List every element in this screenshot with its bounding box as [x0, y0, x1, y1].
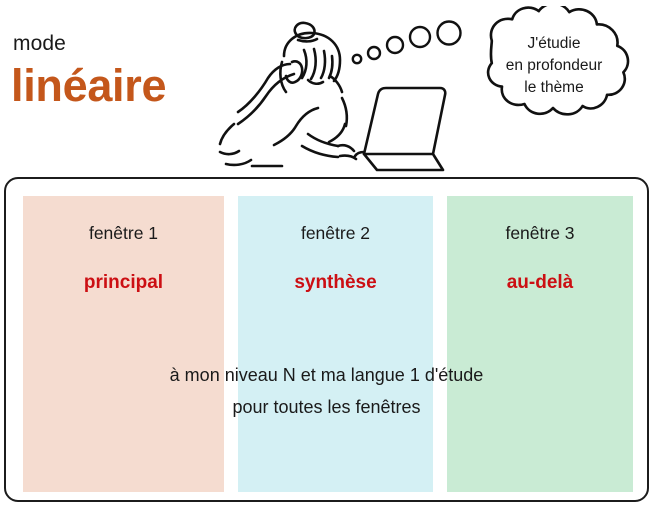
window-3-title: au-delà [447, 272, 633, 294]
thought-dots [348, 18, 468, 68]
window-2-title: synthèse [238, 272, 433, 294]
window-3-header: fenêtre 3 [447, 223, 633, 244]
window-1-header: fenêtre 1 [23, 223, 224, 244]
window-2-header: fenêtre 2 [238, 223, 433, 244]
thought-bubble-text: J'étudie en profondeur le thème [466, 33, 642, 99]
thought-line-2: en profondeur [466, 55, 642, 77]
mode-title: linéaire [11, 63, 166, 108]
window-column-3[interactable]: fenêtre 3 au-delà [447, 196, 633, 492]
thought-line-1: J'étudie [466, 33, 642, 55]
window-columns: fenêtre 1 principal fenêtre 2 synthèse f… [6, 179, 647, 500]
mode-label: mode [13, 33, 66, 54]
window-column-2[interactable]: fenêtre 2 synthèse [238, 196, 433, 492]
thought-dots-icon [348, 18, 468, 68]
thought-line-3: le thème [466, 77, 642, 99]
window-1-title: principal [23, 272, 224, 294]
windows-panel: fenêtre 1 principal fenêtre 2 synthèse f… [4, 177, 649, 502]
window-column-1[interactable]: fenêtre 1 principal [23, 196, 224, 492]
header-zone: mode linéaire [0, 0, 659, 177]
